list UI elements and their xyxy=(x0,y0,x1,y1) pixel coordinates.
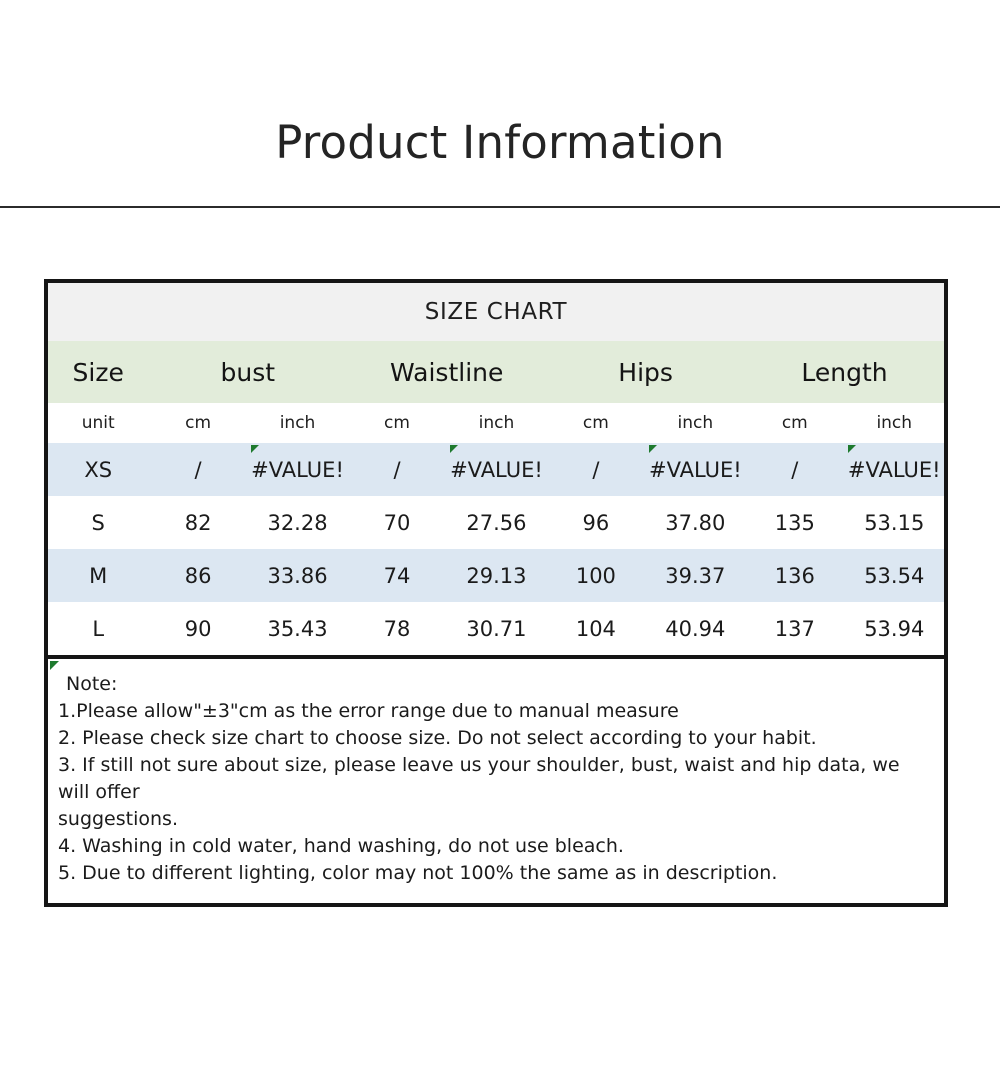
group-header-hips: Hips xyxy=(546,341,745,403)
error-triangle-icon xyxy=(450,445,458,453)
cell-bust-inch: #VALUE! xyxy=(248,443,347,496)
cell-hips-cm: / xyxy=(546,443,645,496)
group-header-length: Length xyxy=(745,341,944,403)
group-header-size: Size xyxy=(48,341,148,403)
cell-waist-inch: 27.56 xyxy=(447,496,546,549)
note-line-3-cont: suggestions. xyxy=(58,806,934,833)
cell-waist-inch: 30.71 xyxy=(447,602,546,655)
unit-bust-cm: cm xyxy=(148,403,247,443)
cell-waist-cm: 74 xyxy=(347,549,446,602)
size-chart-group-header-row: Size bust Waistline Hips Length xyxy=(48,341,944,403)
cell-length-cm: 135 xyxy=(745,496,844,549)
unit-label: unit xyxy=(48,403,148,443)
cell-bust-cm: 86 xyxy=(148,549,247,602)
cell-length-inch: 53.15 xyxy=(845,496,944,549)
cell-length-cm: 137 xyxy=(745,602,844,655)
cell-hips-inch: 37.80 xyxy=(646,496,745,549)
cell-length-inch: 53.54 xyxy=(845,549,944,602)
size-chart-container: SIZE CHART Size bust Waistline Hips Leng… xyxy=(44,279,948,907)
cell-length-cm: / xyxy=(745,443,844,496)
cell-hips-cm: 104 xyxy=(546,602,645,655)
cell-value: #VALUE! xyxy=(848,458,941,482)
cell-bust-cm: 90 xyxy=(148,602,247,655)
note-heading: Note: xyxy=(58,671,934,698)
error-triangle-icon xyxy=(848,445,856,453)
size-chart-banner: SIZE CHART xyxy=(48,283,944,341)
title-divider xyxy=(0,206,1000,208)
error-triangle-icon xyxy=(649,445,657,453)
error-triangle-icon xyxy=(50,661,59,670)
note-line-1: 1.Please allow"±3"cm as the error range … xyxy=(58,698,934,725)
cell-size: L xyxy=(48,602,148,655)
error-triangle-icon xyxy=(251,445,259,453)
group-header-waistline: Waistline xyxy=(347,341,546,403)
cell-length-cm: 136 xyxy=(745,549,844,602)
note-line-3: 3. If still not sure about size, please … xyxy=(58,752,934,806)
size-chart-table: SIZE CHART Size bust Waistline Hips Leng… xyxy=(48,283,944,655)
cell-length-inch: 53.94 xyxy=(845,602,944,655)
size-chart-unit-row: unit cm inch cm inch cm inch cm inch xyxy=(48,403,944,443)
table-row: L 90 35.43 78 30.71 104 40.94 137 53.94 xyxy=(48,602,944,655)
cell-value: #VALUE! xyxy=(251,458,344,482)
unit-waist-inch: inch xyxy=(447,403,546,443)
page-header: Product Information xyxy=(0,0,1000,208)
cell-hips-inch: #VALUE! xyxy=(646,443,745,496)
note-line-4: 4. Washing in cold water, hand washing, … xyxy=(58,833,934,860)
cell-bust-cm: / xyxy=(148,443,247,496)
cell-waist-inch: 29.13 xyxy=(447,549,546,602)
cell-waist-cm: 70 xyxy=(347,496,446,549)
cell-hips-cm: 96 xyxy=(546,496,645,549)
cell-value: #VALUE! xyxy=(450,458,543,482)
cell-hips-inch: 39.37 xyxy=(646,549,745,602)
unit-hips-inch: inch xyxy=(646,403,745,443)
cell-bust-cm: 82 xyxy=(148,496,247,549)
size-chart-banner-row: SIZE CHART xyxy=(48,283,944,341)
cell-size: XS xyxy=(48,443,148,496)
cell-size: M xyxy=(48,549,148,602)
table-row: S 82 32.28 70 27.56 96 37.80 135 53.15 xyxy=(48,496,944,549)
cell-waist-inch: #VALUE! xyxy=(447,443,546,496)
unit-bust-inch: inch xyxy=(248,403,347,443)
cell-hips-inch: 40.94 xyxy=(646,602,745,655)
table-row: M 86 33.86 74 29.13 100 39.37 136 53.54 xyxy=(48,549,944,602)
note-box: Note: 1.Please allow"±3"cm as the error … xyxy=(48,655,944,903)
unit-length-cm: cm xyxy=(745,403,844,443)
cell-bust-inch: 35.43 xyxy=(248,602,347,655)
cell-waist-cm: 78 xyxy=(347,602,446,655)
cell-bust-inch: 33.86 xyxy=(248,549,347,602)
cell-bust-inch: 32.28 xyxy=(248,496,347,549)
note-line-2: 2. Please check size chart to choose siz… xyxy=(58,725,934,752)
cell-value: #VALUE! xyxy=(649,458,742,482)
unit-waist-cm: cm xyxy=(347,403,446,443)
cell-waist-cm: / xyxy=(347,443,446,496)
cell-size: S xyxy=(48,496,148,549)
note-line-5: 5. Due to different lighting, color may … xyxy=(58,860,934,887)
unit-hips-cm: cm xyxy=(546,403,645,443)
unit-length-inch: inch xyxy=(845,403,944,443)
table-row: XS / #VALUE! / #VALUE! / #VALUE! / #VALU… xyxy=(48,443,944,496)
group-header-bust: bust xyxy=(148,341,347,403)
cell-hips-cm: 100 xyxy=(546,549,645,602)
cell-length-inch: #VALUE! xyxy=(845,443,944,496)
page-title: Product Information xyxy=(0,118,1000,168)
